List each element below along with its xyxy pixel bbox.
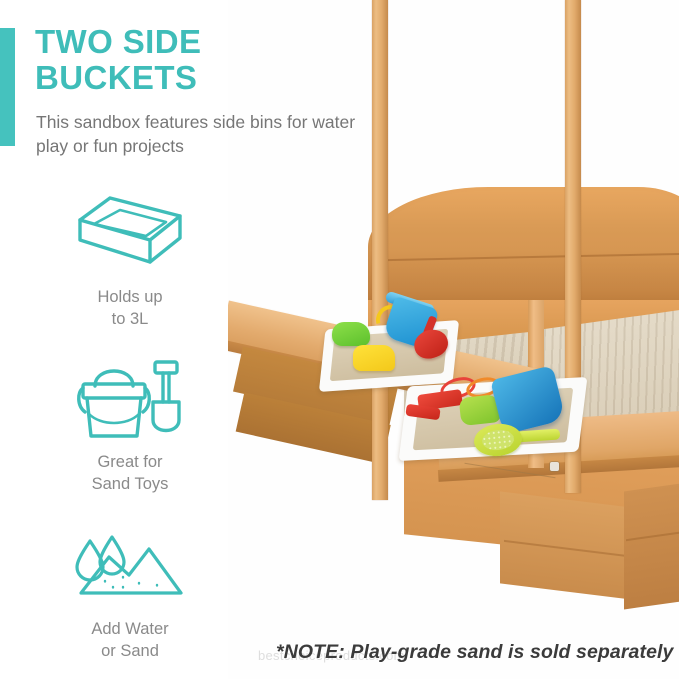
- feature-caption: Add Water or Sand: [30, 618, 230, 662]
- feature-caption-line-1: Add Water: [30, 618, 230, 640]
- feature-caption-line-1: Holds up: [30, 286, 230, 308]
- feature-great-for-sand-toys: Great for Sand Toys: [30, 355, 230, 495]
- feature-holds-up-to-3l: Holds up to 3L: [30, 190, 230, 330]
- toy-mold-green: [332, 322, 370, 346]
- accent-bar: [0, 28, 15, 146]
- feature-add-water-or-sand: Add Water or Sand: [30, 522, 230, 662]
- sandbox-leg-side: [624, 481, 679, 610]
- feature-caption-line-2: Sand Toys: [30, 473, 230, 495]
- promo-image-root: TWO SIDE BUCKETS This sandbox features s…: [0, 0, 679, 679]
- footnote: *NOTE: Play-grade sand is sold separatel…: [276, 641, 674, 664]
- toy-mold-yellow: [353, 345, 395, 371]
- page-title: TWO SIDE BUCKETS: [35, 24, 235, 96]
- water-drops-and-sand-mound-icon: [30, 522, 230, 614]
- bucket-and-shovel-icon: [30, 355, 230, 447]
- feature-caption: Holds up to 3L: [30, 286, 230, 330]
- feature-caption-line-2: to 3L: [30, 308, 230, 330]
- feature-caption-line-1: Great for: [30, 451, 230, 473]
- sandbox-leg-front: [500, 491, 640, 600]
- open-bin-icon: [30, 190, 230, 282]
- feature-caption-line-2: or Sand: [30, 640, 230, 662]
- feature-caption: Great for Sand Toys: [30, 451, 230, 495]
- headline-line-1: TWO SIDE: [35, 24, 235, 60]
- sandbox-hardware-screw: [550, 462, 559, 471]
- subheading: This sandbox features side bins for wate…: [36, 110, 356, 158]
- headline-line-2: BUCKETS: [35, 60, 235, 96]
- canopy-post-left: [372, 0, 388, 500]
- product-photo: [228, 0, 679, 679]
